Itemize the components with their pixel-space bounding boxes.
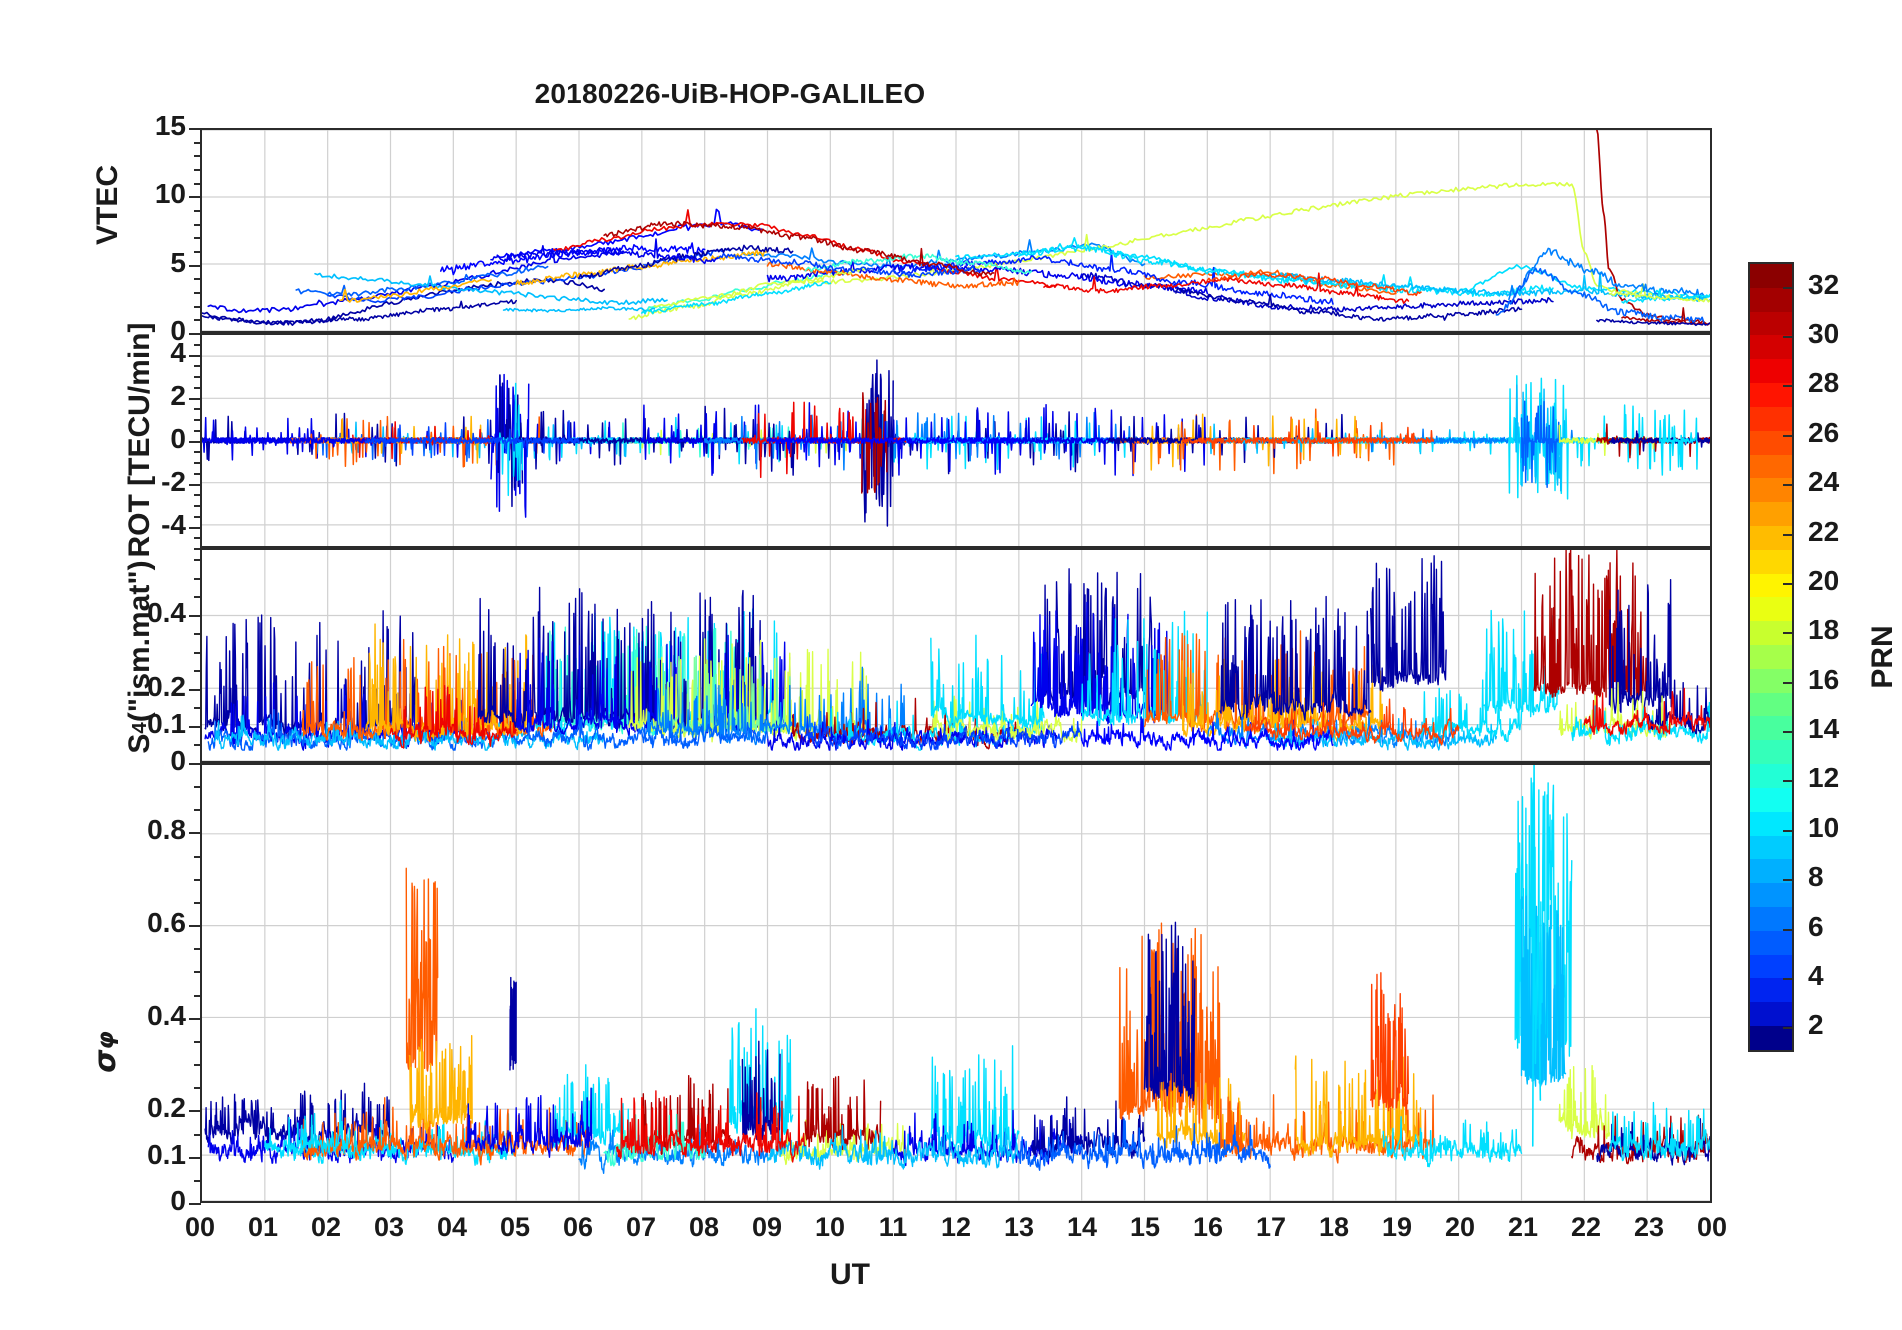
y-axis-minor-tick-mark	[194, 879, 201, 881]
rot-plot-panel	[200, 333, 1712, 548]
x-axis-tick-label: 10	[798, 1212, 862, 1243]
colorbar-band	[1750, 883, 1792, 907]
y-axis-tick-mark	[189, 1203, 201, 1205]
colorbar-tick-label: 4	[1808, 960, 1824, 992]
y-axis-minor-tick-mark	[194, 451, 201, 453]
colorbar-band	[1750, 907, 1792, 931]
colorbar-band	[1750, 788, 1792, 812]
x-axis-tick-label: 00	[1680, 1212, 1744, 1243]
y-axis-minor-tick-mark	[194, 473, 201, 475]
y-axis-minor-tick-mark	[194, 251, 201, 253]
y-axis-minor-tick-mark	[194, 516, 201, 518]
y-axis-minor-tick-mark	[194, 344, 201, 346]
y-axis-minor-tick-mark	[194, 1180, 201, 1182]
colorbar-tick-label: 22	[1808, 516, 1839, 548]
colorbar-band	[1750, 716, 1792, 740]
colorbar-tick-label: 28	[1808, 367, 1839, 399]
y-axis-minor-tick-mark	[194, 237, 201, 239]
y-axis-tick-label: 0.8	[78, 814, 186, 846]
y-axis-minor-tick-mark	[194, 376, 201, 378]
y-axis-tick-label: -4	[78, 509, 186, 541]
colorbar-band	[1750, 1002, 1792, 1026]
colorbar-tick-label: 18	[1808, 614, 1839, 646]
y-axis-tick-label: 15	[78, 110, 186, 142]
y-axis-minor-tick-mark	[194, 292, 201, 294]
data-series-line	[510, 978, 516, 1070]
x-axis-tick-label: 11	[861, 1212, 925, 1243]
x-axis-tick-label: 21	[1491, 1212, 1555, 1243]
colorbar-tick-mark	[1783, 1027, 1792, 1029]
y-axis-minor-tick-mark	[194, 306, 201, 308]
figure-root: 20180226-UiB-HOP-GALILEO VTEC ROT [TECU/…	[0, 0, 1902, 1330]
x-axis-tick-label: 13	[987, 1212, 1051, 1243]
y-axis-minor-tick-mark	[194, 142, 201, 144]
y-axis-minor-tick-mark	[194, 365, 201, 367]
y-axis-minor-tick-mark	[194, 707, 201, 709]
y-axis-tick-label: 0	[78, 1185, 186, 1217]
x-axis-tick-label: 05	[483, 1212, 547, 1243]
colorbar-band	[1750, 645, 1792, 669]
x-axis-tick-label: 04	[420, 1212, 484, 1243]
y-axis-tick-mark	[189, 1110, 201, 1112]
y-axis-minor-tick-mark	[194, 1134, 201, 1136]
colorbar-tick-label: 30	[1808, 318, 1839, 350]
y-axis-minor-tick-mark	[194, 183, 201, 185]
x-axis-tick-label: 17	[1239, 1212, 1303, 1243]
colorbar-band	[1750, 836, 1792, 860]
colorbar-tick-label: 14	[1808, 713, 1839, 745]
y-axis-minor-tick-mark	[194, 809, 201, 811]
y-axis-tick-mark	[189, 128, 201, 130]
colorbar-band	[1750, 931, 1792, 955]
y-axis-minor-tick-mark	[194, 505, 201, 507]
y-axis-tick-label: -2	[78, 466, 186, 498]
colorbar-tick-label: 26	[1808, 417, 1839, 449]
colorbar-tick-label: 32	[1808, 269, 1839, 301]
y-axis-minor-tick-mark	[194, 1064, 201, 1066]
y-axis-minor-tick-mark	[194, 494, 201, 496]
y-axis-minor-tick-mark	[194, 430, 201, 432]
x-axis-tick-label: 07	[609, 1212, 673, 1243]
y-axis-minor-tick-mark	[194, 224, 201, 226]
y-axis-tick-mark	[189, 398, 201, 400]
y-axis-tick-mark	[189, 527, 201, 529]
colorbar-band	[1750, 597, 1792, 621]
colorbar-tick-mark	[1783, 978, 1792, 980]
colorbar-tick-mark	[1783, 632, 1792, 634]
y-axis-tick-label: 0.1	[78, 708, 186, 740]
x-axis-tick-label: 08	[672, 1212, 736, 1243]
y-axis-minor-tick-mark	[194, 744, 201, 746]
colorbar-band	[1750, 550, 1792, 574]
y-axis-minor-tick-mark	[194, 1041, 201, 1043]
colorbar-tick-label: 16	[1808, 664, 1839, 696]
y-axis-tick-label: 0.1	[78, 1139, 186, 1171]
y-axis-minor-tick-mark	[194, 210, 201, 212]
y-axis-minor-tick-mark	[194, 652, 201, 654]
x-axis-tick-label: 15	[1113, 1212, 1177, 1243]
y-axis-tick-label: 0.4	[78, 597, 186, 629]
colorbar-tick-label: 24	[1808, 466, 1839, 498]
x-axis-tick-label: 14	[1050, 1212, 1114, 1243]
colorbar-band	[1750, 764, 1792, 788]
colorbar-band	[1750, 407, 1792, 431]
colorbar-tick-mark	[1783, 780, 1792, 782]
y-axis-minor-tick-mark	[194, 559, 201, 561]
rot-plot-area	[202, 335, 1710, 546]
y-axis-tick-mark	[189, 726, 201, 728]
colorbar-tick-mark	[1783, 336, 1792, 338]
y-axis-minor-tick-mark	[194, 763, 201, 765]
x-axis-tick-label: 12	[924, 1212, 988, 1243]
y-axis-minor-tick-mark	[194, 596, 201, 598]
colorbar-tick-label: 8	[1808, 861, 1824, 893]
y-axis-minor-tick-mark	[194, 948, 201, 950]
colorbar-tick-mark	[1783, 435, 1792, 437]
y-axis-tick-label: 10	[78, 178, 186, 210]
x-axis-tick-label: 23	[1617, 1212, 1681, 1243]
y-axis-tick-mark	[189, 689, 201, 691]
colorbar-tick-mark	[1783, 385, 1792, 387]
y-axis-minor-tick-mark	[194, 902, 201, 904]
vtec-plot-area	[202, 130, 1710, 331]
y-axis-minor-tick-mark	[194, 278, 201, 280]
y-axis-minor-tick-mark	[194, 537, 201, 539]
colorbar-tick-label: 12	[1808, 762, 1839, 794]
y-axis-minor-tick-mark	[194, 670, 201, 672]
colorbar-tick-mark	[1783, 682, 1792, 684]
y-axis-tick-mark	[189, 355, 201, 357]
y-axis-tick-mark	[189, 615, 201, 617]
x-axis-tick-label: 03	[357, 1212, 421, 1243]
colorbar-band	[1750, 359, 1792, 383]
x-axis-tick-label: 22	[1554, 1212, 1618, 1243]
colorbar-tick-label: 6	[1808, 911, 1824, 943]
colorbar-band	[1750, 955, 1792, 979]
sigma-phi-plot-panel	[200, 763, 1712, 1203]
y-axis-minor-tick-mark	[194, 971, 201, 973]
x-axis-tick-label: 01	[231, 1212, 295, 1243]
y-axis-minor-tick-mark	[194, 995, 201, 997]
y-axis-tick-label: 2	[78, 380, 186, 412]
y-axis-tick-label: 0.2	[78, 1092, 186, 1124]
y-axis-tick-label: 0.2	[78, 671, 186, 703]
y-axis-tick-mark	[189, 832, 201, 834]
x-axis-tick-label: 06	[546, 1212, 610, 1243]
x-axis-tick-label: 20	[1428, 1212, 1492, 1243]
colorbar-band	[1750, 526, 1792, 550]
y-axis-tick-label: 0	[78, 745, 186, 777]
data-series-line	[642, 281, 830, 313]
y-axis-minor-tick-mark	[194, 333, 201, 335]
y-axis-minor-tick-mark	[194, 419, 201, 421]
sigma-glyph: σ	[88, 1049, 123, 1072]
colorbar-band	[1750, 335, 1792, 359]
colorbar-tick-label: 20	[1808, 565, 1839, 597]
phi-subscript-glyph: φ	[91, 1031, 119, 1049]
y-axis-minor-tick-mark	[194, 856, 201, 858]
y-axis-minor-tick-mark	[194, 1087, 201, 1089]
x-axis-tick-label: 16	[1176, 1212, 1240, 1243]
colorbar-tick-mark	[1783, 879, 1792, 881]
y-axis-minor-tick-mark	[194, 408, 201, 410]
s4-plot-area	[202, 550, 1710, 761]
y-axis-tick-mark	[189, 441, 201, 443]
y-axis-tick-label: 0.6	[78, 907, 186, 939]
colorbar-band	[1750, 312, 1792, 336]
y-axis-tick-label: 0.4	[78, 1000, 186, 1032]
y-axis-minor-tick-mark	[194, 169, 201, 171]
vtec-plot-panel	[200, 128, 1712, 333]
colorbar-band	[1750, 693, 1792, 717]
s4-plot-panel	[200, 548, 1712, 763]
y-axis-minor-tick-mark	[194, 548, 201, 550]
y-axis-minor-tick-mark	[194, 319, 201, 321]
colorbar-tick-mark	[1783, 583, 1792, 585]
y-axis-tick-mark	[189, 196, 201, 198]
y-axis-minor-tick-mark	[194, 786, 201, 788]
y-axis-minor-tick-mark	[194, 155, 201, 157]
x-axis-tick-label: 18	[1302, 1212, 1366, 1243]
colorbar-band	[1750, 1026, 1792, 1050]
x-axis-tick-label: 19	[1365, 1212, 1429, 1243]
colorbar-band	[1750, 455, 1792, 479]
colorbar-band	[1750, 478, 1792, 502]
colorbar-tick-mark	[1783, 830, 1792, 832]
colorbar-tick-label: 2	[1808, 1009, 1824, 1041]
colorbar-label: PRN	[1866, 612, 1900, 702]
colorbar-band	[1750, 574, 1792, 598]
sigma-phi-plot-area	[202, 765, 1710, 1201]
y-axis-tick-mark	[189, 484, 201, 486]
y-axis-tick-mark	[189, 925, 201, 927]
data-series-line	[202, 278, 604, 325]
colorbar-tick-mark	[1783, 484, 1792, 486]
y-axis-tick-mark	[189, 265, 201, 267]
colorbar-tick-mark	[1783, 287, 1792, 289]
y-axis-minor-tick-mark	[194, 578, 201, 580]
y-axis-tick-mark	[189, 1157, 201, 1159]
colorbar-tick-label: 10	[1808, 812, 1839, 844]
y-axis-tick-label: 0	[78, 423, 186, 455]
y-axis-tick-mark	[189, 1018, 201, 1020]
colorbar-tick-mark	[1783, 534, 1792, 536]
data-series-line	[409, 1036, 472, 1133]
colorbar-band	[1750, 740, 1792, 764]
x-axis-tick-label: 09	[735, 1212, 799, 1243]
data-series-line	[1371, 556, 1446, 691]
colorbar-tick-mark	[1783, 929, 1792, 931]
colorbar-band	[1750, 502, 1792, 526]
colorbar-band	[1750, 978, 1792, 1002]
y-axis-tick-label: 4	[78, 337, 186, 369]
x-axis-label: UT	[700, 1258, 1000, 1292]
colorbar-band	[1750, 669, 1792, 693]
colorbar-tick-mark	[1783, 731, 1792, 733]
colorbar-band	[1750, 264, 1792, 288]
y-axis-minor-tick-mark	[194, 633, 201, 635]
prn-colorbar	[1748, 262, 1794, 1052]
y-axis-tick-label: 5	[78, 247, 186, 279]
x-axis-tick-label: 02	[294, 1212, 358, 1243]
y-axis-minor-tick-mark	[194, 462, 201, 464]
data-series-line	[1082, 273, 1553, 312]
data-series-line	[931, 635, 1044, 727]
figure-title: 20180226-UiB-HOP-GALILEO	[0, 78, 1460, 110]
data-series-line	[1534, 550, 1647, 701]
colorbar-band	[1750, 288, 1792, 312]
y-axis-minor-tick-mark	[194, 387, 201, 389]
